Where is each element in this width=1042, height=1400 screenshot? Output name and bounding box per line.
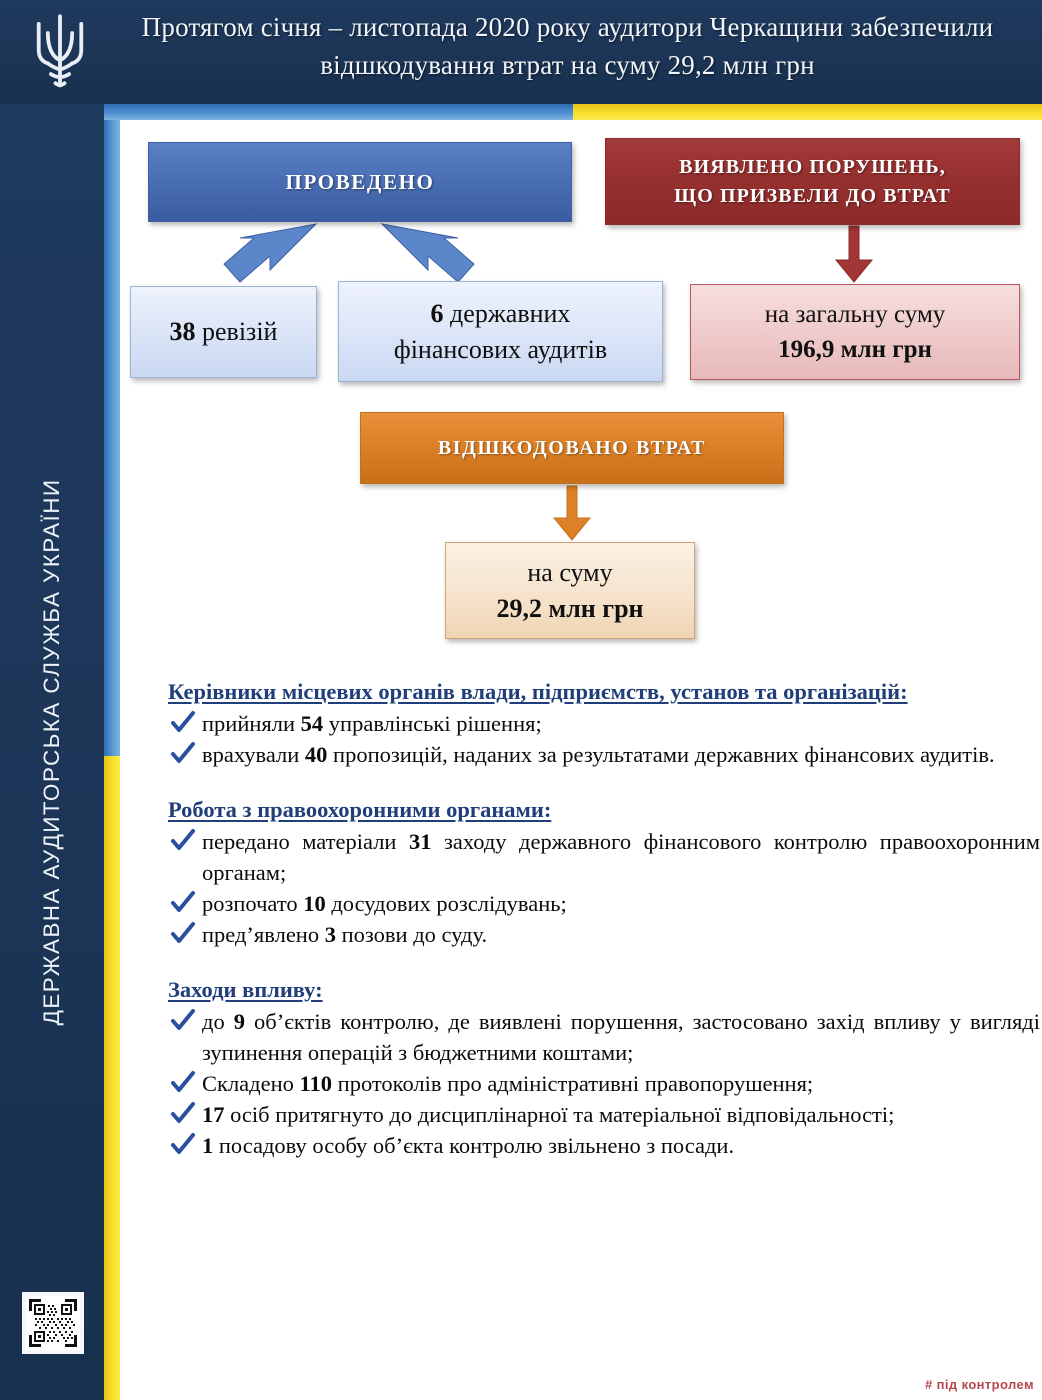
list-item-text: пред’явлено 3 позови до суду.	[202, 922, 487, 947]
check-icon	[170, 921, 196, 947]
arrow-compensated-down	[554, 486, 590, 540]
compensated-amount-line2: 29,2 млн грн	[496, 591, 643, 627]
violations-header-box: ВИЯВЛЕНО ПОРУШЕНЬ, ЩО ПРИЗВЕЛИ ДО ВТРАТ	[605, 138, 1020, 225]
flag-stripe-vertical-blue	[104, 104, 120, 756]
content-area: ПРОВЕДЕНО ВИЯВЛЕНО ПОРУШЕНЬ, ЩО ПРИЗВЕЛИ…	[120, 120, 1042, 1400]
sidebar-agency-label: ДЕРЖАВНА АУДИТОРСЬКА СЛУЖБА УКРАЇНИ	[0, 104, 104, 1400]
list-item: прийняли 54 управлінські рішення;	[168, 708, 1040, 739]
list-item: пред’явлено 3 позови до суду.	[168, 919, 1040, 950]
flag-stripe-vertical	[104, 104, 120, 1400]
violations-header-line1: ВИЯВЛЕНО ПОРУШЕНЬ,	[679, 153, 946, 182]
compensated-amount-box: на суму 29,2 млн грн	[445, 542, 695, 639]
list-item-text: 17 осіб притягнуто до дисциплінарної та …	[202, 1102, 894, 1127]
sidebar: ДЕРЖАВНА АУДИТОРСЬКА СЛУЖБА УКРАЇНИ	[0, 104, 104, 1400]
flag-stripe-horizontal-yellow	[573, 104, 1042, 120]
list-item: до 9 об’єктів контролю, де виявлені пору…	[168, 1006, 1040, 1068]
list-item: 17 осіб притягнуто до дисциплінарної та …	[168, 1099, 1040, 1130]
section-gap	[168, 780, 1040, 794]
list-item: передано матеріали 31 заходу державного …	[168, 826, 1040, 888]
check-icon	[170, 828, 196, 854]
check-icon	[170, 890, 196, 916]
check-icon	[170, 1132, 196, 1158]
result-audits-number: 6	[431, 299, 444, 328]
list-item: 1 посадову особу об’єкта контролю звільн…	[168, 1130, 1040, 1161]
section-managers: Керівники місцевих органів влади, підпри…	[168, 676, 1040, 770]
arrow-conducted-right	[382, 224, 474, 282]
check-icon	[170, 1101, 196, 1127]
infographic-page: Протягом січня – листопада 2020 року ауд…	[0, 0, 1042, 1400]
sections-container: Керівники місцевих органів влади, підпри…	[168, 676, 1040, 1171]
compensated-amount-line1: на суму	[527, 555, 612, 591]
list-item-text: Складено 110 протоколів про адміністрати…	[202, 1071, 813, 1096]
qr-code[interactable]	[22, 1292, 84, 1354]
list-item-text: прийняли 54 управлінські рішення;	[202, 711, 542, 736]
ukraine-trident-emblem	[22, 10, 98, 94]
violations-amount-box: на загальну суму 196,9 млн грн	[690, 284, 1020, 380]
arrow-conducted-left	[224, 224, 316, 282]
conducted-header-label: ПРОВЕДЕНО	[286, 170, 435, 195]
result-revisions-number: 38	[170, 317, 196, 346]
section-law-enforcement: Робота з правоохоронними органами: перед…	[168, 794, 1040, 950]
section-law-enforcement-title: Робота з правоохоронними органами:	[168, 794, 1040, 825]
header-band: Протягом січня – листопада 2020 року ауд…	[0, 0, 1042, 104]
check-icon	[170, 741, 196, 767]
list-item-text: врахували 40 пропозицій, наданих за резу…	[202, 742, 995, 767]
section-measures-title: Заходи впливу:	[168, 974, 1040, 1005]
sidebar-agency-text: ДЕРЖАВНА АУДИТОРСЬКА СЛУЖБА УКРАЇНИ	[39, 479, 65, 1026]
section-managers-title: Керівники місцевих органів влади, підпри…	[168, 676, 1040, 707]
result-audits-box: 6 державних фінансових аудитів	[338, 281, 663, 382]
page-title: Протягом січня – листопада 2020 року ауд…	[110, 8, 1025, 84]
check-icon	[170, 710, 196, 736]
arrow-violations-down	[836, 226, 872, 282]
list-item-text: до 9 об’єктів контролю, де виявлені пору…	[202, 1009, 1040, 1065]
list-item: врахували 40 пропозицій, наданих за резу…	[168, 739, 1040, 770]
flag-stripe-horizontal	[104, 104, 1042, 120]
flag-stripe-vertical-yellow	[104, 756, 120, 1400]
flag-stripe-horizontal-blue	[104, 104, 573, 120]
result-audits-label-line2: фінансових аудитів	[394, 332, 607, 368]
compensated-header-label: ВІДШКОДОВАНО ВТРАТ	[438, 437, 706, 460]
section-gap	[168, 960, 1040, 974]
list-item-text: передано матеріали 31 заходу державного …	[202, 829, 1040, 885]
compensated-header-box: ВІДШКОДОВАНО ВТРАТ	[360, 412, 784, 484]
check-icon	[170, 1008, 196, 1034]
list-item-text: розпочато 10 досудових розслідувань;	[202, 891, 567, 916]
result-revisions-box: 38 ревізій	[130, 286, 317, 378]
list-item: Складено 110 протоколів про адміністрати…	[168, 1068, 1040, 1099]
result-audits-label: державних	[444, 299, 571, 328]
check-icon	[170, 1070, 196, 1096]
violations-amount-line2: 196,9 млн грн	[778, 332, 932, 367]
section-measures: Заходи впливу: до 9 об’єктів контролю, д…	[168, 974, 1040, 1161]
violations-amount-line1: на загальну суму	[765, 297, 946, 332]
conducted-header-box: ПРОВЕДЕНО	[148, 142, 572, 222]
hashtag-under-control: # під контролем	[925, 1377, 1034, 1392]
result-revisions-label: ревізій	[196, 317, 278, 346]
list-item-text: 1 посадову особу об’єкта контролю звільн…	[202, 1133, 734, 1158]
violations-header-line2: ЩО ПРИЗВЕЛИ ДО ВТРАТ	[674, 182, 951, 211]
list-item: розпочато 10 досудових розслідувань;	[168, 888, 1040, 919]
